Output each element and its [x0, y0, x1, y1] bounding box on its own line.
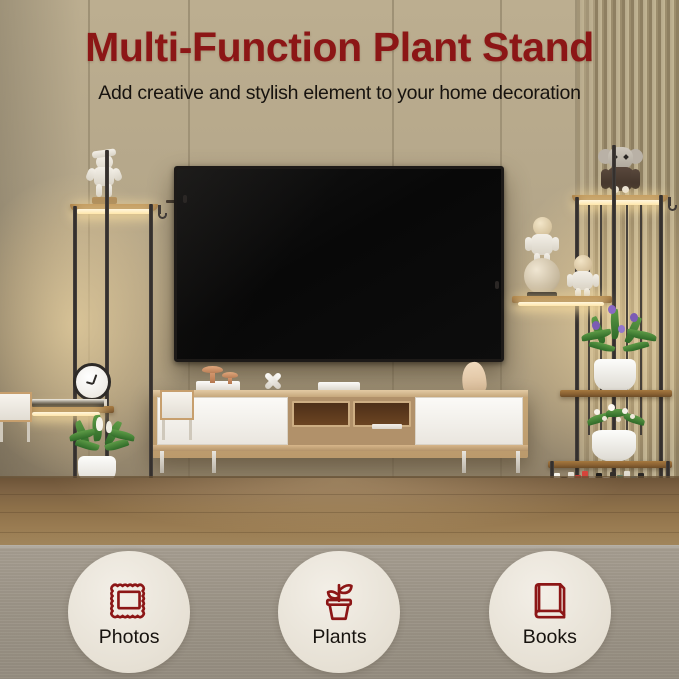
white-pot-lower	[592, 430, 636, 462]
photo-frame-stamp-icon	[104, 575, 154, 625]
feature-label-books: Books	[523, 626, 577, 649]
purple-flower-plant-foliage	[578, 305, 658, 363]
led-light-bar-top	[578, 200, 662, 205]
stand-post	[149, 204, 153, 490]
page-subtitle: Add creative and stylish element to your…	[0, 82, 679, 105]
feature-books[interactable]: Books	[489, 551, 611, 673]
console-leg	[212, 451, 216, 473]
tv-sensor	[495, 281, 499, 289]
hanging-hook-icon	[158, 205, 168, 219]
feature-label-photos: Photos	[99, 626, 160, 649]
console-cubby-books	[372, 424, 402, 429]
console-face	[157, 397, 523, 445]
book-icon	[525, 575, 575, 625]
tv-sensor	[183, 195, 187, 203]
console-base	[152, 445, 528, 451]
bear-figurine	[598, 145, 644, 195]
stone-globe	[524, 258, 560, 294]
console-door-right[interactable]	[415, 397, 523, 445]
wood-floor	[0, 478, 679, 545]
side-table-right	[0, 392, 32, 444]
product-poster: Multi-Function Plant Stand Add creative …	[0, 0, 679, 679]
shelf-plant-upper	[560, 390, 672, 397]
feature-list: Photos Plants	[0, 545, 679, 679]
tv-console	[152, 390, 528, 458]
page-title: Multi-Function Plant Stand	[0, 24, 679, 71]
console-top-surface	[152, 390, 528, 397]
stand-post	[659, 195, 663, 490]
feature-plants[interactable]: Plants	[278, 551, 400, 673]
console-cubby	[292, 401, 350, 427]
book-stack-small	[32, 399, 104, 407]
candlestick-tall-top	[202, 366, 223, 373]
tv-screen	[177, 169, 501, 359]
candlestick-short-top	[222, 372, 238, 378]
white-pot-upper	[594, 359, 636, 391]
plant-stand-right	[520, 145, 670, 490]
small-astronaut-figurine	[568, 255, 598, 299]
table-clock	[73, 363, 111, 401]
wall-mounted-tv	[174, 166, 504, 362]
led-light-bar-top	[76, 209, 152, 214]
hanging-hook-icon	[668, 197, 678, 211]
feature-label-plants: Plants	[312, 626, 366, 649]
x-sculpture	[264, 372, 282, 390]
side-table-left	[160, 390, 194, 442]
feature-photos[interactable]: Photos	[68, 551, 190, 673]
feature-band: Photos Plants	[0, 545, 679, 679]
shelf-bottom	[548, 461, 672, 468]
plant-stand-left	[30, 150, 170, 490]
console-leg	[462, 451, 466, 473]
potted-plant-icon	[314, 575, 364, 625]
